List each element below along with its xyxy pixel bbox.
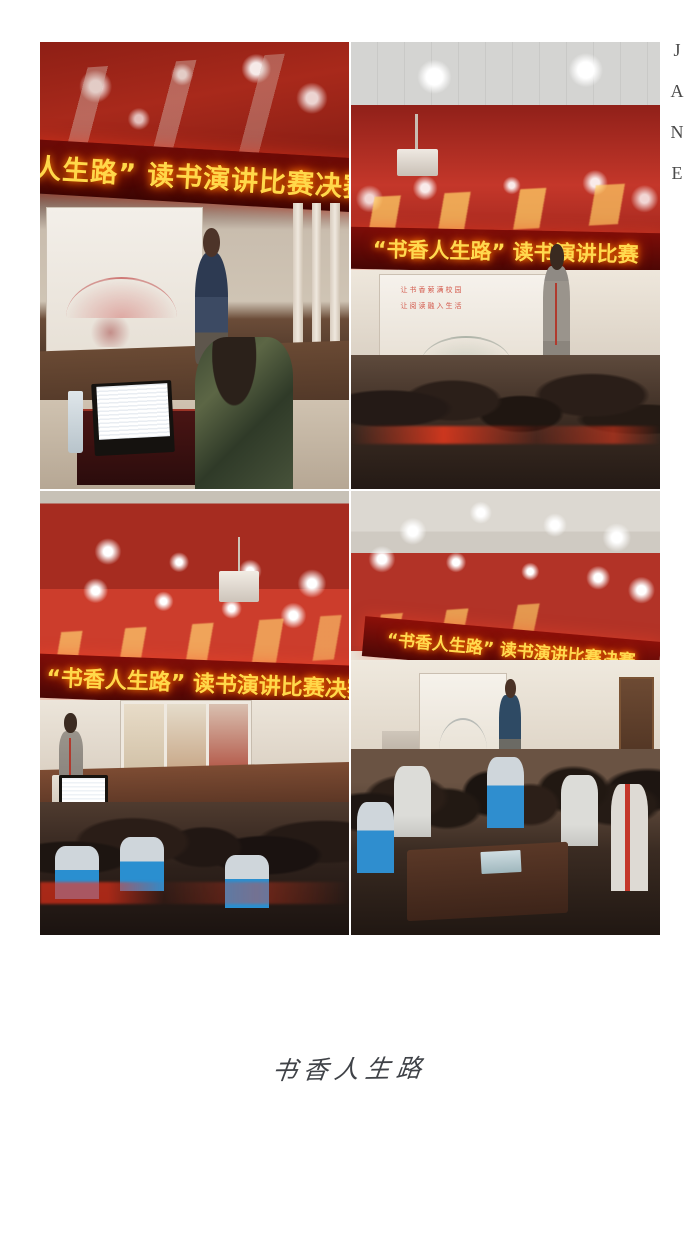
wall-pillar [293,203,302,355]
student-uniform [561,775,598,846]
slide-book-cover [124,704,163,769]
laptop-screen-spreadsheet [96,383,169,440]
bench-red-glow [40,882,349,904]
student-uniform [487,757,524,828]
calligraphy-mark [87,318,133,348]
student-uniform [357,802,394,873]
led-banner-text: “书香人生路” 读书演讲比赛 [372,233,638,269]
seated-audience [351,355,660,489]
vertical-letter-a: A [671,81,684,102]
slide-line-1: 让书香萦满校园 [401,285,464,295]
wall-pillar [330,203,339,355]
vertical-letter-j: J [673,40,680,61]
ceiling-projector [397,149,437,176]
photo-top-left[interactable]: 人生路” 读书演讲比赛决赛 [40,42,349,489]
uniform-stripe [555,283,557,345]
handwritten-caption: 书香人生路 [0,1044,700,1092]
speaker-head [505,679,516,699]
wall-pillar [312,203,321,355]
ceiling-tiles [351,42,660,109]
slide-line-2: 让阅读融入生活 [401,301,464,311]
vertical-letter-e: E [672,163,683,184]
book-on-desk [480,850,521,874]
bench-red-glow [351,426,660,444]
photo-collage: 人生路” 读书演讲比赛决赛 “书香人生路” 读书演讲比赛 让书香萦满校 [40,42,660,935]
book-logo-icon [439,718,487,750]
water-bottle [68,391,83,454]
student-uniform [611,784,648,891]
slide-book-cover [167,704,206,769]
slide-book-cover [209,704,248,769]
book-logo-icon [66,277,177,317]
photo-top-right[interactable]: “书香人生路” 读书演讲比赛 让书香萦满校园 让阅读融入生活 [351,42,660,489]
projection-screen [46,207,203,357]
led-banner-text: “书香人生路” 读书演讲比赛决赛 [46,660,349,704]
vertical-letters: J A N E [665,40,689,184]
laptop [91,380,175,456]
led-banner: “书香人生路” 读书演讲比赛 [351,226,660,275]
speaker-head [64,713,77,733]
speaker-head [550,244,564,270]
speaker-head [203,228,221,257]
photo-bottom-right[interactable]: “书香人生路” 读书演讲比赛决赛 [351,491,660,935]
student-uniform [394,766,431,837]
ceiling-projector [219,571,259,602]
vertical-letter-n: N [671,122,684,143]
led-banner-text: 人生路” 读书演讲比赛决赛 [40,147,349,206]
camouflage-uniform-person [195,337,294,489]
photo-bottom-left[interactable]: “书香人生路” 读书演讲比赛决赛 [40,491,349,935]
